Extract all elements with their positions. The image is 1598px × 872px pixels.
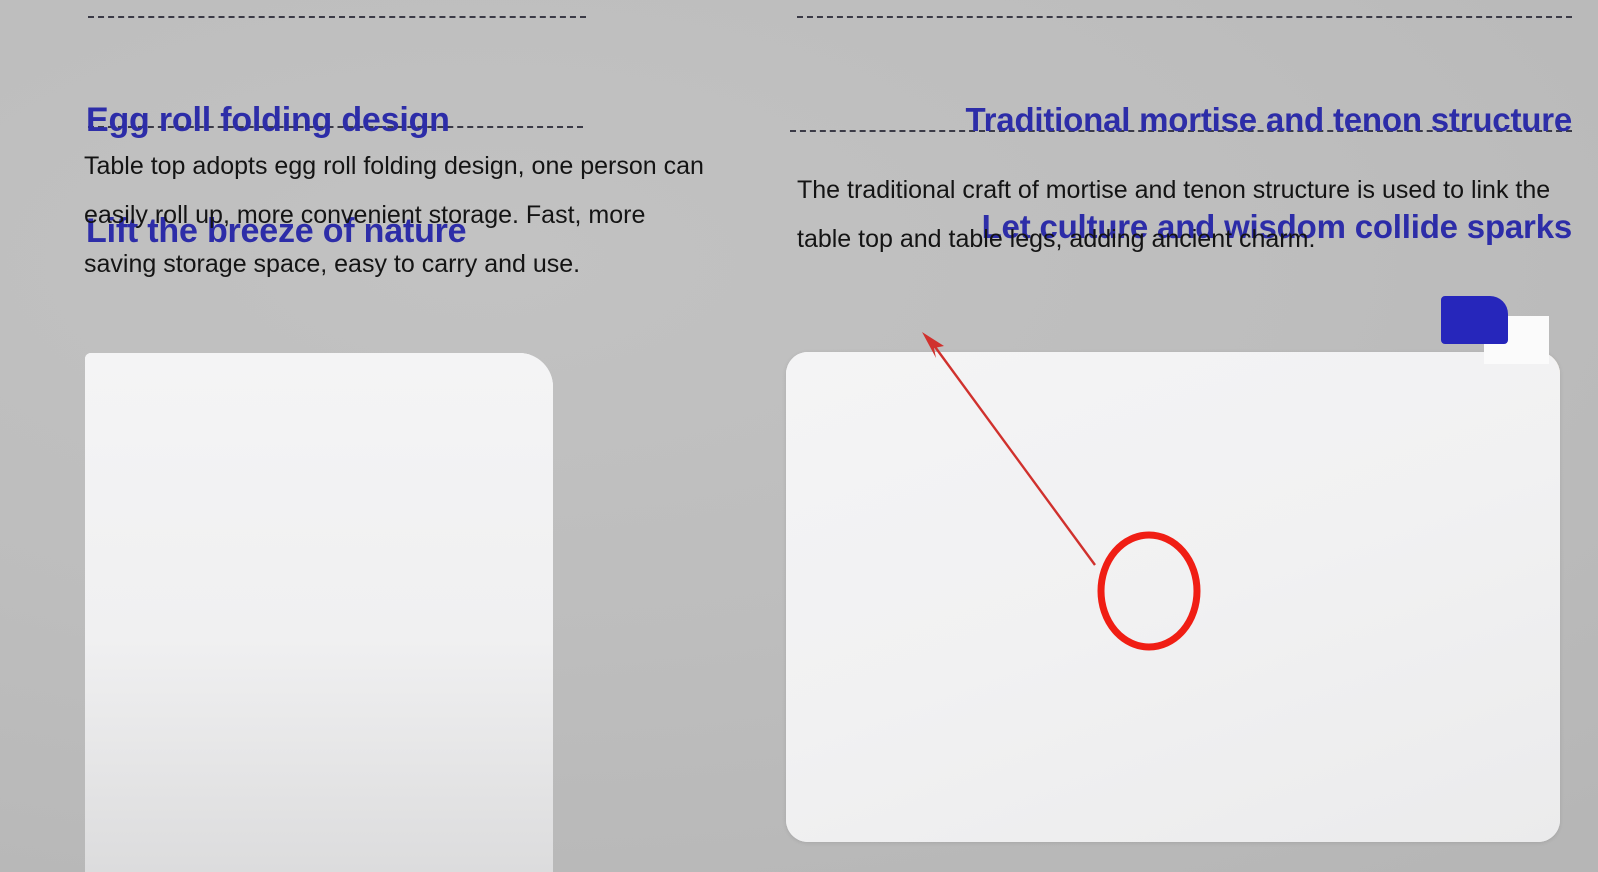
photo-backdrop: [85, 353, 553, 872]
left-product-photo: [85, 353, 553, 872]
divider-right-top: [797, 16, 1572, 18]
left-body-text: Table top adopts egg roll folding design…: [84, 142, 724, 289]
left-heading-line-1: Egg roll folding design: [86, 102, 466, 139]
corner-badge-blue: [1441, 296, 1508, 344]
right-product-photo: [786, 352, 1560, 842]
slide-root: Egg roll folding design Lift the breeze …: [0, 0, 1598, 872]
photo-backdrop-right: [786, 352, 1560, 842]
right-body-text: The traditional craft of mortise and ten…: [797, 166, 1557, 264]
right-heading-line-1: Traditional mortise and tenon structure: [794, 102, 1572, 138]
divider-left-top: [88, 16, 586, 18]
